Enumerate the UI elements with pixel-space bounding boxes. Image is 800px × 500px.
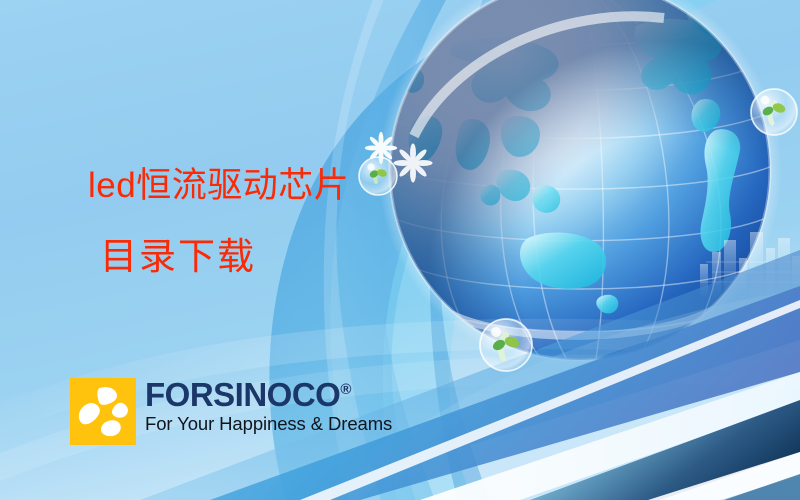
logo-tagline: For Your Happiness & Dreams [145, 413, 392, 435]
logo-wordmark: FORSINOCO® [145, 378, 392, 412]
headline-line-1: led恒流驱动芯片 [88, 168, 349, 203]
logo-text-block: FORSINOCO® For Your Happiness & Dreams [145, 378, 392, 435]
headline-line-2: 目录下载 [100, 238, 256, 275]
company-logo: FORSINOCO® For Your Happiness & Dreams [70, 378, 392, 445]
banner-canvas: led恒流驱动芯片 目录下载 FORSINOCO® For Your Happi… [0, 0, 800, 500]
pinwheel-flower-mark-icon [70, 378, 136, 445]
logo-wordmark-text: FORSINOCO [145, 376, 340, 413]
registered-trademark-symbol: ® [340, 381, 351, 398]
